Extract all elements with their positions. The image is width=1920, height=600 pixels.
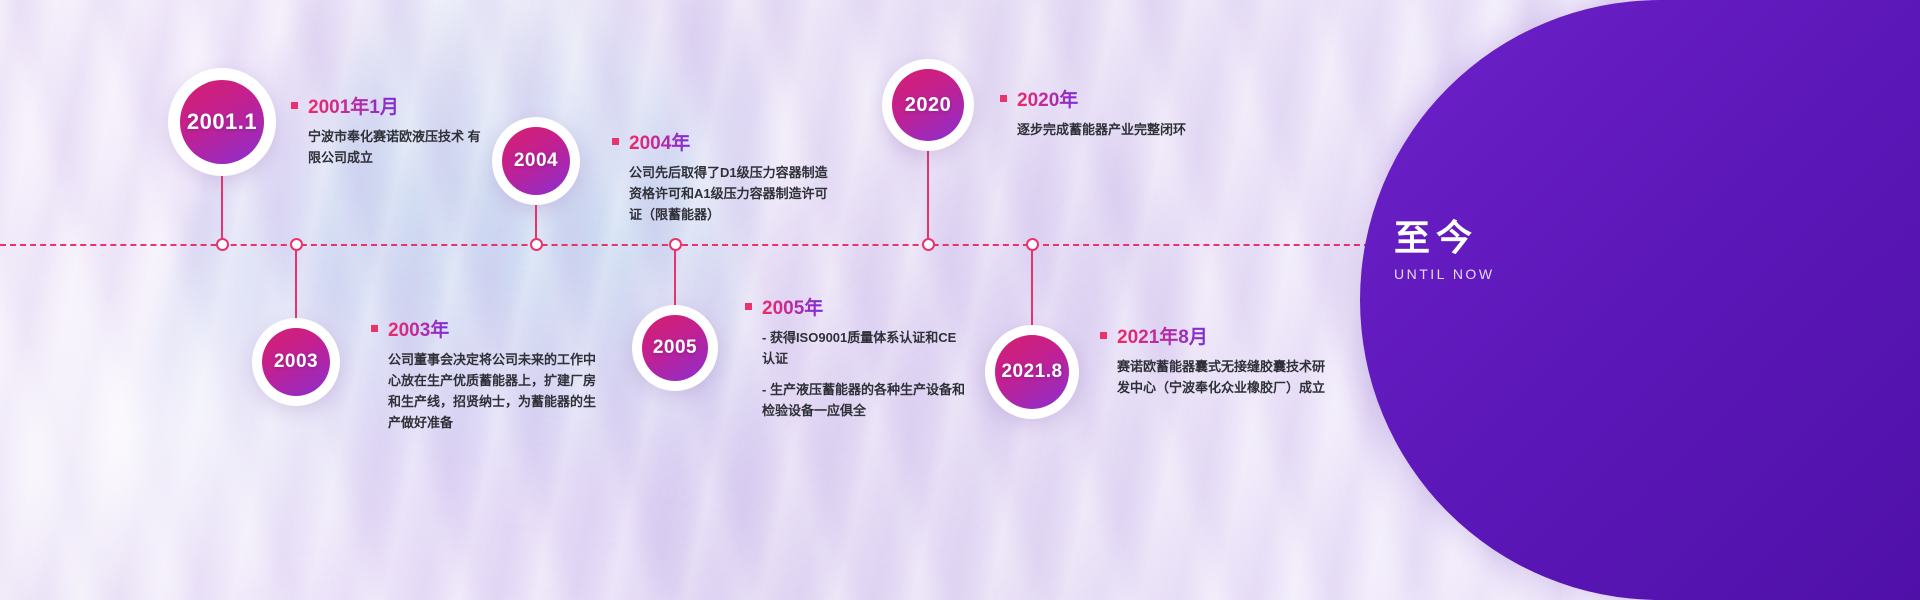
milestone-heading-2001: 2001年1月	[291, 92, 491, 119]
year-marker-2001[interactable]: 2001.1	[168, 68, 276, 176]
square-bullet-icon	[745, 303, 752, 310]
milestone-body-2003: 公司董事会决定将公司未来的工作中心放在生产优质蓄能器上，扩建厂房和生产线，招贤纳…	[388, 349, 601, 433]
milestone-title-2001: 2001年1月	[308, 92, 399, 119]
square-bullet-icon	[1100, 332, 1107, 339]
timeline-infographic: 2001.1 2003 2004 2005 2020 2021.8 2001年1…	[0, 0, 1920, 600]
milestone-block-2005: 2005年 - 获得ISO9001质量体系认证和CE认证 - 生产液压蓄能器的各…	[745, 293, 965, 421]
year-marker-label-2003: 2003	[262, 328, 330, 396]
year-marker-2004[interactable]: 2004	[492, 117, 580, 205]
timeline-axis	[0, 244, 1400, 246]
timeline-node-2005[interactable]	[669, 238, 682, 251]
milestone-paragraph: 公司先后取得了D1级压力容器制造资格许可和A1级压力容器制造许可证（限蓄能器）	[629, 162, 832, 225]
milestone-paragraph: - 获得ISO9001质量体系认证和CE认证	[762, 327, 965, 369]
milestone-title-2003: 2003年	[388, 315, 449, 342]
milestone-block-2004: 2004年 公司先后取得了D1级压力容器制造资格许可和A1级压力容器制造许可证（…	[612, 128, 832, 225]
milestone-heading-2004: 2004年	[612, 128, 832, 155]
milestone-body-2005: - 获得ISO9001质量体系认证和CE认证 - 生产液压蓄能器的各种生产设备和…	[762, 327, 965, 421]
milestone-block-2021: 2021年8月 赛诺欧蓄能器囊式无接缝胶囊技术研发中心（宁波奉化众业橡胶厂）成立	[1100, 322, 1330, 398]
timeline-node-2003[interactable]	[290, 238, 303, 251]
milestone-body-2004: 公司先后取得了D1级压力容器制造资格许可和A1级压力容器制造许可证（限蓄能器）	[629, 162, 832, 225]
year-marker-label-2005: 2005	[642, 315, 708, 381]
milestone-paragraph: 公司董事会决定将公司未来的工作中心放在生产优质蓄能器上，扩建厂房和生产线，招贤纳…	[388, 349, 601, 433]
year-marker-label-2001: 2001.1	[180, 80, 264, 164]
timeline-stem-2021	[1031, 244, 1033, 327]
square-bullet-icon	[612, 138, 619, 145]
milestone-title-2005: 2005年	[762, 293, 823, 320]
milestone-title-2004: 2004年	[629, 128, 690, 155]
timeline-node-2021[interactable]	[1026, 238, 1039, 251]
square-bullet-icon	[1000, 95, 1007, 102]
timeline-stem-2001	[221, 176, 223, 246]
year-marker-2021[interactable]: 2021.8	[985, 325, 1079, 419]
year-marker-2005[interactable]: 2005	[632, 305, 718, 391]
year-marker-label-2021: 2021.8	[995, 335, 1069, 409]
milestone-heading-2021: 2021年8月	[1100, 322, 1330, 349]
milestone-title-2020: 2020年	[1017, 85, 1078, 112]
milestone-block-2003: 2003年 公司董事会决定将公司未来的工作中心放在生产优质蓄能器上，扩建厂房和生…	[371, 315, 601, 433]
timeline-stem-2005	[674, 244, 676, 307]
milestone-body-2020: 逐步完成蓄能器产业完整闭环	[1017, 119, 1320, 140]
square-bullet-icon	[371, 325, 378, 332]
timeline-node-2004[interactable]	[530, 238, 543, 251]
year-marker-label-2004: 2004	[502, 127, 570, 195]
timeline-node-2020[interactable]	[922, 238, 935, 251]
milestone-paragraph: 赛诺欧蓄能器囊式无接缝胶囊技术研发中心（宁波奉化众业橡胶厂）成立	[1117, 356, 1330, 398]
timeline-stem-2003	[295, 244, 297, 320]
timeline-node-2001[interactable]	[216, 238, 229, 251]
until-now-title-en: UNTIL NOW	[1394, 266, 1654, 282]
milestone-body-2021: 赛诺欧蓄能器囊式无接缝胶囊技术研发中心（宁波奉化众业橡胶厂）成立	[1117, 356, 1330, 398]
milestone-body-2001: 宁波市奉化赛诺欧液压技术 有限公司成立	[308, 126, 491, 168]
milestone-block-2020: 2020年 逐步完成蓄能器产业完整闭环	[1000, 85, 1320, 140]
until-now-title-cn: 至今	[1394, 218, 1654, 258]
year-marker-label-2020: 2020	[892, 69, 964, 141]
square-bullet-icon	[291, 102, 298, 109]
milestone-block-2001: 2001年1月 宁波市奉化赛诺欧液压技术 有限公司成立	[291, 92, 491, 168]
milestone-paragraph: 逐步完成蓄能器产业完整闭环	[1017, 119, 1320, 140]
milestone-heading-2003: 2003年	[371, 315, 601, 342]
year-marker-2020[interactable]: 2020	[882, 59, 974, 151]
background-glow	[0, 200, 400, 600]
milestone-paragraph: 宁波市奉化赛诺欧液压技术 有限公司成立	[308, 126, 491, 168]
milestone-heading-2005: 2005年	[745, 293, 965, 320]
milestone-paragraph: - 生产液压蓄能器的各种生产设备和检验设备一应俱全	[762, 379, 965, 421]
milestone-title-2021: 2021年8月	[1117, 322, 1208, 349]
timeline-stem-2020	[927, 151, 929, 246]
until-now-panel-inner: 至今 UNTIL NOW	[1360, 0, 1920, 600]
milestone-heading-2020: 2020年	[1000, 85, 1320, 112]
until-now-panel: 至今 UNTIL NOW	[1360, 0, 1920, 600]
until-now-text-group: 至今 UNTIL NOW	[1394, 218, 1654, 282]
year-marker-2003[interactable]: 2003	[252, 318, 340, 406]
